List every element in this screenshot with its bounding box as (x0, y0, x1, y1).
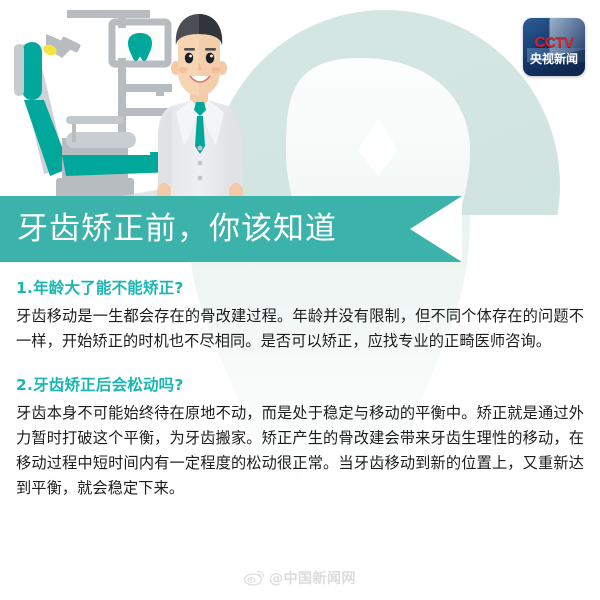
banner-arrow-notch (410, 196, 462, 262)
poster-page: CCTV 央视新闻 牙齿矫正前，你该知道 1.年龄大了能不能矫正? 牙齿移动是一… (0, 0, 600, 600)
article-section-1: 1.年龄大了能不能矫正? 牙齿移动是一生都会存在的骨改建过程。年龄并没有限制，但… (0, 276, 600, 354)
section-1-body: 牙齿移动是一生都会存在的骨改建过程。年龄并没有限制，但不同个体存在的问题不一样，… (16, 304, 584, 354)
source-watermark: @中国新闻网 (0, 568, 600, 588)
dentist-clinic-illustration (0, 0, 600, 215)
watermark-text: @中国新闻网 (269, 568, 356, 588)
cctv-news-logo[interactable]: CCTV 央视新闻 (523, 18, 585, 76)
section-1-heading: 1.年龄大了能不能矫正? (16, 276, 584, 298)
article-section-2: 2.牙齿矫正后会松动吗? 牙齿本身不可能始终待在原地不动，而是处于稳定与移动的平… (0, 373, 600, 501)
article-body: 1.年龄大了能不能矫正? 牙齿移动是一生都会存在的骨改建过程。年龄并没有限制，但… (0, 276, 600, 501)
weibo-icon (244, 570, 266, 586)
section-2-body: 牙齿本身不可能始终待在原地不动，而是处于稳定与移动的平衡中。矫正就是通过外力暂时… (16, 401, 584, 501)
section-2-heading: 2.牙齿矫正后会松动吗? (16, 373, 584, 395)
cctv-brand-text: CCTV (523, 34, 585, 51)
title-banner: 牙齿矫正前，你该知道 (0, 196, 462, 262)
page-title: 牙齿矫正前，你该知道 (17, 196, 337, 262)
cctv-sub-text: 央视新闻 (523, 50, 585, 67)
